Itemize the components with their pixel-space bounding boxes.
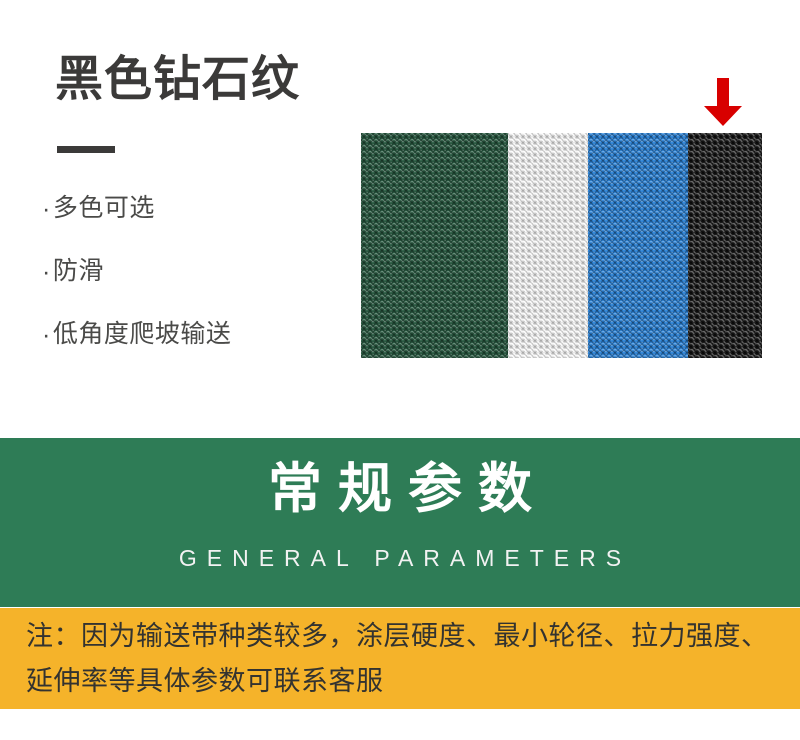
swatch-strip-black: [688, 133, 762, 358]
list-item: ·多色可选: [42, 196, 342, 222]
swatch-strip-dark-green: [361, 133, 508, 358]
banner-subtitle: GENERAL PARAMETERS: [0, 545, 800, 573]
bullet-dot-icon: ·: [42, 260, 51, 285]
feature-label: 低角度爬坡输送: [53, 320, 232, 348]
product-intro-section: 黑色钻石纹 ·多色可选 ·防滑 ·低角度爬坡输送: [0, 0, 800, 438]
feature-list: ·多色可选 ·防滑 ·低角度爬坡输送: [42, 196, 342, 385]
banner-title: 常规参数: [0, 456, 800, 524]
down-arrow-icon: [702, 78, 744, 126]
product-photo: [361, 133, 762, 358]
bullet-dot-icon: ·: [42, 323, 51, 348]
title-underline-rule: [57, 146, 115, 153]
list-item: ·低角度爬坡输送: [42, 322, 342, 348]
note-text: 注：因为输送带种类较多，涂层硬度、最小轮径、拉力强度、延伸率等具体参数可联系客服: [26, 614, 778, 704]
feature-label: 防滑: [53, 257, 104, 285]
feature-label: 多色可选: [53, 194, 155, 222]
page-title: 黑色钻石纹: [55, 52, 300, 107]
bullet-dot-icon: ·: [42, 197, 51, 222]
swatch-strip-blue: [588, 133, 688, 358]
bottom-spacer: [0, 709, 800, 740]
swatch-strip-white-gray: [508, 133, 588, 358]
list-item: ·防滑: [42, 259, 342, 285]
